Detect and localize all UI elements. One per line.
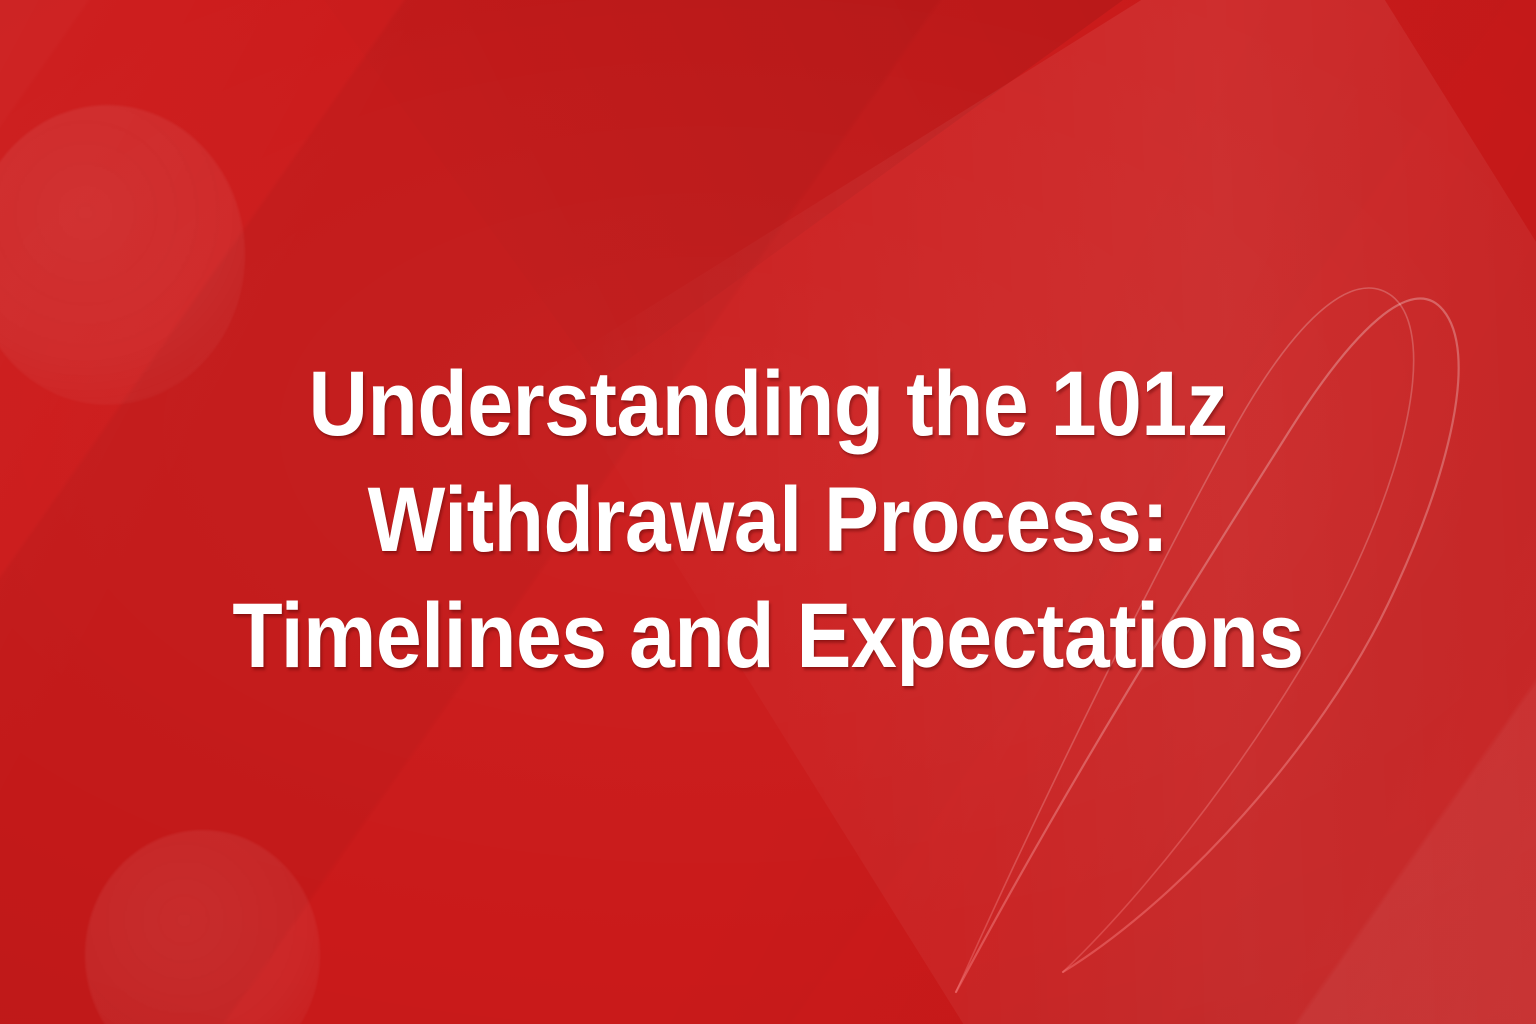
slide-title: Understanding the 101z Withdrawal Proces… [191, 347, 1346, 695]
title-slide: Understanding the 101z Withdrawal Proces… [0, 0, 1536, 1024]
title-container: Understanding the 101z Withdrawal Proces… [0, 0, 1536, 1024]
title-line-2: Withdrawal Process: [191, 463, 1346, 579]
title-line-1: Understanding the 101z [191, 347, 1346, 463]
title-line-3: Timelines and Expectations [191, 579, 1346, 695]
